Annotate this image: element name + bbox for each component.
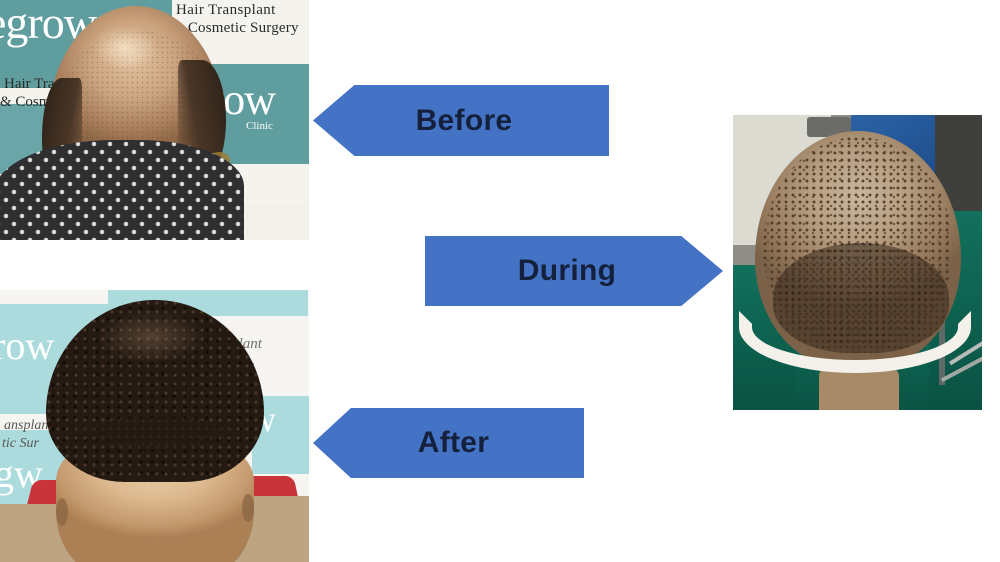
after-banner-logo-left: row <box>0 322 54 369</box>
after-banner-line-4: tic Sur <box>2 436 39 452</box>
before-patterned-shirt <box>0 140 244 240</box>
before-banner-logo-subtext: Clinic <box>246 120 273 132</box>
before-scalp-highlight <box>92 26 158 70</box>
comparison-poster: egrow Hair Transplant & Cosmetic Surgery… <box>0 0 1000 562</box>
arrow-text-after: After <box>313 426 584 460</box>
after-hair-highlight <box>96 310 206 364</box>
before-banner-line-1: Hair Transplant <box>176 2 276 19</box>
before-banner-line-3: Hair Tra <box>4 76 54 93</box>
photo-after: row gw w ...splant ...gery ansplant tic … <box>0 290 309 562</box>
arrow-label-after[interactable]: After <box>313 408 584 478</box>
photo-during <box>733 115 982 410</box>
after-ear-left <box>56 498 68 526</box>
during-white-headband <box>739 311 971 373</box>
arrow-text-during: During <box>425 254 723 288</box>
photo-before: egrow Hair Transplant & Cosmetic Surgery… <box>0 0 309 240</box>
after-restored-hairline <box>52 418 258 462</box>
after-ear-right <box>242 494 254 522</box>
arrow-label-during[interactable]: During <box>425 236 723 306</box>
arrow-text-before: Before <box>313 104 609 138</box>
arrow-label-before[interactable]: Before <box>313 85 609 156</box>
after-banner-line-3: ansplant <box>4 418 52 434</box>
